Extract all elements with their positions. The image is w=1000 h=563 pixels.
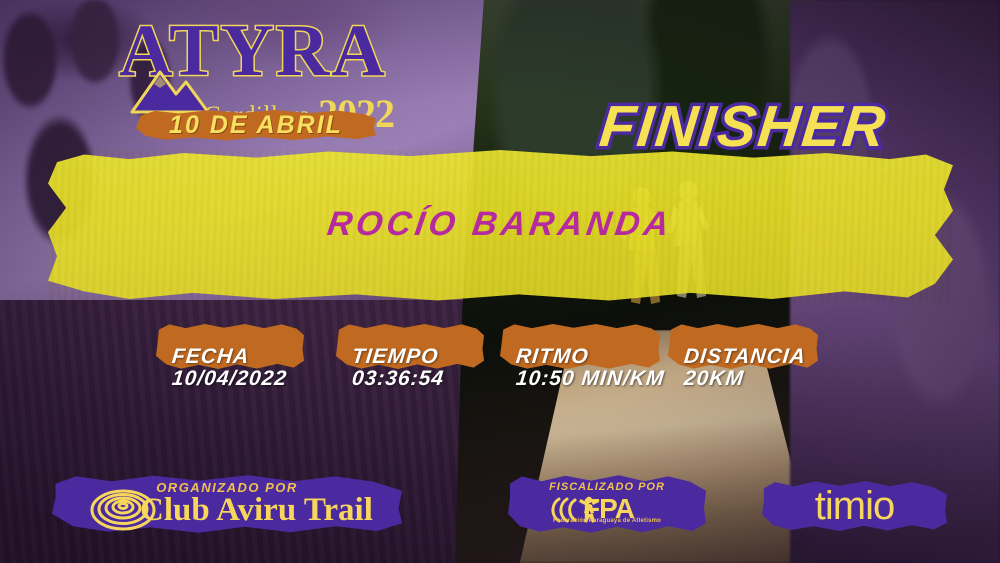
athlete-name: ROCÍO BARANDA bbox=[0, 205, 1000, 244]
sanctioner-full-name: Federación Paraguaya de Atletismo bbox=[508, 518, 706, 524]
stat-value: 10/04/2022 bbox=[171, 367, 289, 391]
event-date-label: 10 DE ABRIL bbox=[136, 111, 376, 140]
stat-label: TIEMPO bbox=[351, 345, 440, 369]
platform-name: timio bbox=[762, 484, 947, 529]
sanctioner-caption: FISCALIZADO POR bbox=[508, 481, 706, 493]
stat-value: 03:36:54 bbox=[351, 367, 446, 391]
stat-label: RITMO bbox=[515, 345, 590, 369]
finisher-certificate: ATYRA Cordillera 2022 10 DE ABRIL FINISH… bbox=[0, 0, 1000, 563]
stat-label: FECHA bbox=[171, 345, 251, 369]
stat-value: 10:50 MIN/KM bbox=[515, 367, 666, 391]
stat-label: DISTANCIA bbox=[683, 345, 807, 369]
finisher-badge: FINISHER bbox=[596, 93, 890, 160]
organizer-name: Club Aviru Trail bbox=[140, 492, 373, 529]
stat-value: 20KM bbox=[683, 367, 746, 391]
